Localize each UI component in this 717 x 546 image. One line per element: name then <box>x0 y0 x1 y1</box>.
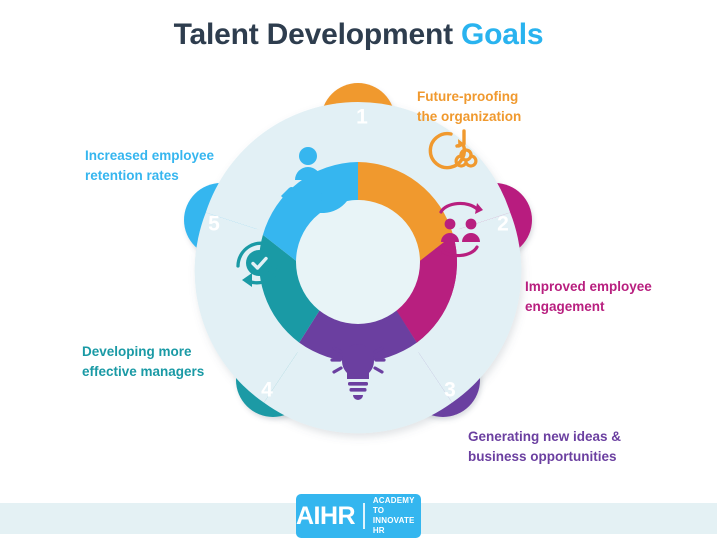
callout-label-2: Improved employee engagement <box>525 277 652 316</box>
callout-label-5: Increased employee retention rates <box>85 146 214 185</box>
talent-development-cycle-diagram: 1 2 3 4 5 <box>143 72 573 452</box>
number-label-3: 3 <box>444 379 456 402</box>
number-label-2: 2 <box>497 213 509 236</box>
logo-divider <box>363 503 365 529</box>
number-label-1: 1 <box>356 106 368 129</box>
callout-label-1: Future-proofing the organization <box>417 87 521 126</box>
logo-wordmark: AIHR <box>296 504 363 529</box>
logo-tagline: ACADEMY TO INNOVATE HR <box>365 496 421 536</box>
page-title: Talent Development Goals <box>0 18 717 52</box>
infographic-canvas: Talent Development Goals <box>0 0 717 546</box>
donut-hub <box>296 200 420 324</box>
page-title-accent: Goals <box>461 18 543 51</box>
number-label-4: 4 <box>261 379 273 402</box>
number-label-5: 5 <box>208 213 220 236</box>
aihr-logo[interactable]: AIHR ACADEMY TO INNOVATE HR <box>296 494 421 538</box>
page-title-main: Talent Development <box>174 18 461 51</box>
callout-label-3: Generating new ideas & business opportun… <box>468 427 621 466</box>
callout-label-4: Developing more effective managers <box>82 342 204 381</box>
